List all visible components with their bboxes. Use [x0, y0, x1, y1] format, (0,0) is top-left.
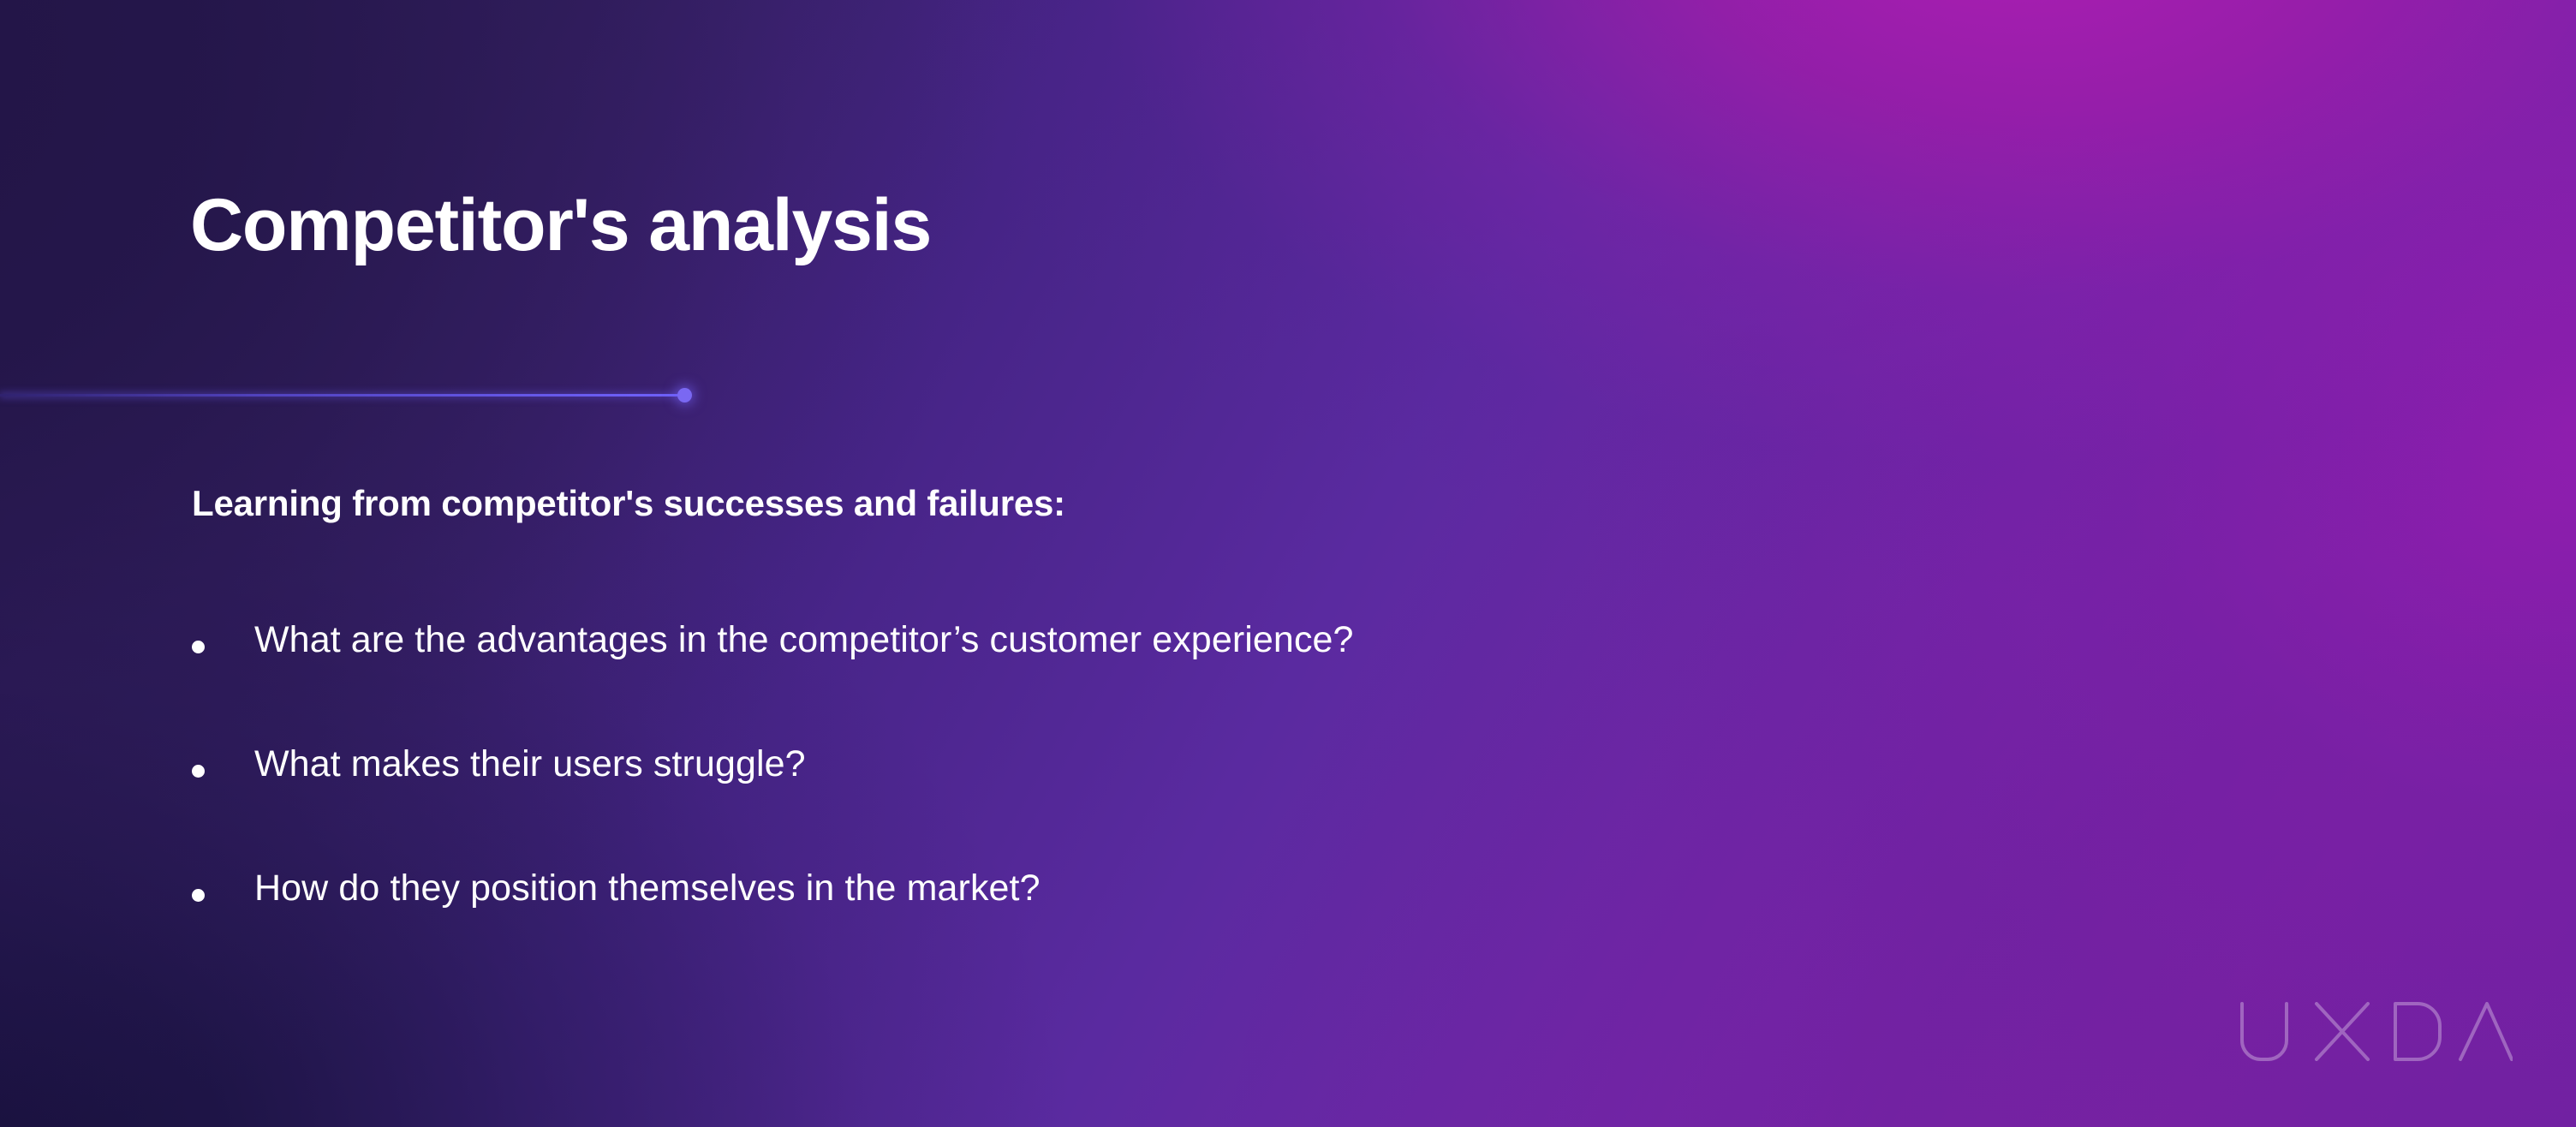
slide-canvas: Competitor's analysis Learning from comp…: [0, 0, 2576, 1127]
bullet-dot-icon: [192, 641, 205, 653]
accent-rule: [0, 394, 685, 397]
list-item-label: What are the advantages in the competito…: [254, 618, 1354, 662]
slide-subheading: Learning from competitor's successes and…: [192, 484, 1065, 523]
logo-letter-a: [2460, 1004, 2512, 1059]
uxda-logo: [2237, 999, 2513, 1065]
logo-letter-x: [2317, 1004, 2368, 1059]
accent-rule-dot-icon: [677, 388, 692, 402]
bullet-list: What are the advantages in the competito…: [192, 618, 1354, 931]
logo-letter-u: [2242, 1004, 2287, 1059]
list-item-label: What makes their users struggle?: [254, 742, 806, 786]
list-item-label: How do they position themselves in the m…: [254, 867, 1041, 910]
logo-letter-d: [2395, 1004, 2440, 1059]
list-item: What are the advantages in the competito…: [192, 618, 1354, 683]
slide-title: Competitor's analysis: [190, 187, 931, 265]
list-item: How do they position themselves in the m…: [192, 867, 1354, 931]
bullet-dot-icon: [192, 889, 205, 902]
bullet-dot-icon: [192, 765, 205, 778]
list-item: What makes their users struggle?: [192, 742, 1354, 807]
